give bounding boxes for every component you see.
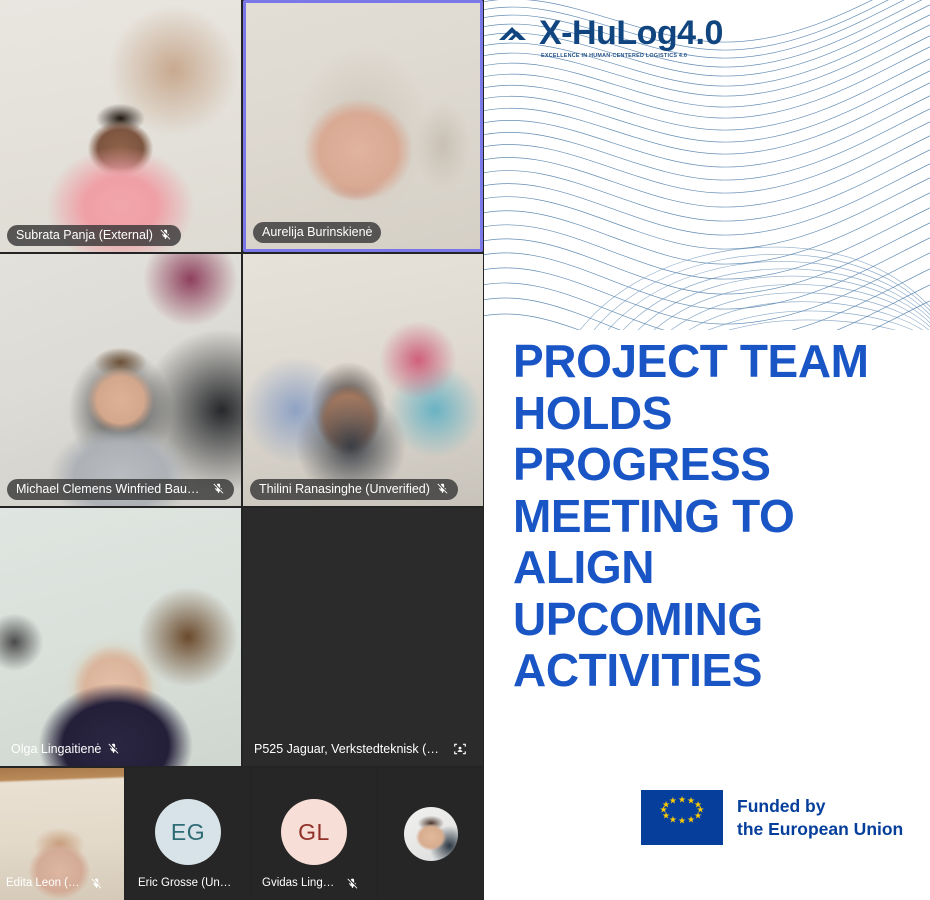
video-feed <box>0 0 241 252</box>
brand-text: X-HuLog4.0 EXCELLENCE IN HUMAN-CENTERED … <box>539 16 723 59</box>
mic-off-icon <box>436 482 449 495</box>
eu-funding-text: Funded by the European Union <box>737 795 903 840</box>
frame-view-icon <box>453 742 467 756</box>
participant-name: Olga Lingaitienė <box>11 742 101 756</box>
eu-flag-icon: ★ ★ ★ ★ ★ ★ ★ ★ ★ ★ ★ ★ <box>641 790 723 845</box>
video-feed <box>243 254 483 506</box>
poster-root: Subrata Panja (External) Aurelija Burins… <box>0 0 930 900</box>
eu-funding-line1: Funded by <box>737 795 903 817</box>
participant-namebar: Edita Leon (Un... <box>2 874 112 894</box>
room-video-feed <box>243 575 483 709</box>
participant-namebar: Olga Lingaitienė <box>7 739 129 760</box>
participant-name: P525 Jaguar, Verkstedteknisk (Un... <box>254 742 447 756</box>
video-conference-grid: Subrata Panja (External) Aurelija Burins… <box>0 0 484 900</box>
avatar-initials: EG <box>155 799 221 865</box>
video-tile-olga-lingaitiene[interactable]: Olga Lingaitienė <box>0 508 241 766</box>
participant-name: Edita Leon (Un... <box>6 877 84 890</box>
video-tile-thilini-ranasinghe[interactable]: Thilini Ranasinghe (Unverified) <box>243 254 483 506</box>
video-feed <box>246 3 480 249</box>
video-tile-edita-leon[interactable]: Edita Leon (Un... <box>0 768 124 900</box>
participant-namebar: Gvidas Lingaiti... <box>258 874 368 894</box>
brand-logo: X-HuLog4.0 EXCELLENCE IN HUMAN-CENTERED … <box>498 16 723 59</box>
video-tile-eric-grosse[interactable]: EG Eric Grosse (Unve... <box>126 768 250 900</box>
participant-name: Gvidas Lingaiti... <box>262 877 340 890</box>
mic-off-icon <box>346 877 359 890</box>
participant-name: Eric Grosse (Unve... <box>138 877 235 890</box>
avatar-initials-text: GL <box>298 819 330 846</box>
participant-namebar: Eric Grosse (Unve... <box>134 874 244 894</box>
participant-namebar: Thilini Ranasinghe (Unverified) <box>250 479 458 500</box>
content-panel: X-HuLog4.0 EXCELLENCE IN HUMAN-CENTERED … <box>484 0 930 900</box>
avatar-initials-text: EG <box>171 819 205 846</box>
avatar-initials: GL <box>281 799 347 865</box>
participant-name: Thilini Ranasinghe (Unverified) <box>259 482 430 496</box>
video-tile-subrata-panja[interactable]: Subrata Panja (External) <box>0 0 241 252</box>
video-tile-gvidas-lingaitis[interactable]: GL Gvidas Lingaiti... <box>252 768 376 900</box>
mic-off-icon <box>159 228 172 241</box>
participant-namebar: P525 Jaguar, Verkstedteknisk (Un... <box>250 739 476 760</box>
mic-off-icon <box>107 742 120 755</box>
eu-funding-badge: ★ ★ ★ ★ ★ ★ ★ ★ ★ ★ ★ ★ Funded by the Eu… <box>641 790 903 845</box>
video-tile-aurelija-burinskiene[interactable]: Aurelija Burinskienė <box>243 0 483 252</box>
video-tile-photo-avatar-participant[interactable] <box>378 768 484 900</box>
brand-tagline: EXCELLENCE IN HUMAN-CENTERED LOGISTICS 4… <box>541 53 723 59</box>
participant-name: Michael Clemens Winfried Bauer (... <box>16 482 206 496</box>
video-tile-michael-bauer[interactable]: Michael Clemens Winfried Bauer (... <box>0 254 241 506</box>
participant-name: Aurelija Burinskienė <box>262 225 372 239</box>
brand-title: X-HuLog4.0 <box>539 16 723 50</box>
video-tile-p525-jaguar-room[interactable]: P525 Jaguar, Verkstedteknisk (Un... <box>243 508 483 766</box>
mic-off-icon <box>90 877 103 890</box>
mic-off-icon <box>212 482 225 495</box>
participant-namebar: Aurelija Burinskienė <box>253 222 381 243</box>
participant-name: Subrata Panja (External) <box>16 228 153 242</box>
participant-namebar: Subrata Panja (External) <box>7 225 181 246</box>
double-chevron-logo-icon <box>498 21 536 47</box>
video-feed <box>0 508 241 766</box>
participant-namebar: Michael Clemens Winfried Bauer (... <box>7 479 234 500</box>
avatar <box>404 807 458 861</box>
eu-funding-line2: the European Union <box>737 818 903 840</box>
avatar-photo-image <box>404 807 458 861</box>
video-feed <box>0 254 241 506</box>
page-title: PROJECT TEAM HOLDS PROGRESS MEETING TO A… <box>513 336 913 697</box>
participant-namebar <box>384 887 397 894</box>
